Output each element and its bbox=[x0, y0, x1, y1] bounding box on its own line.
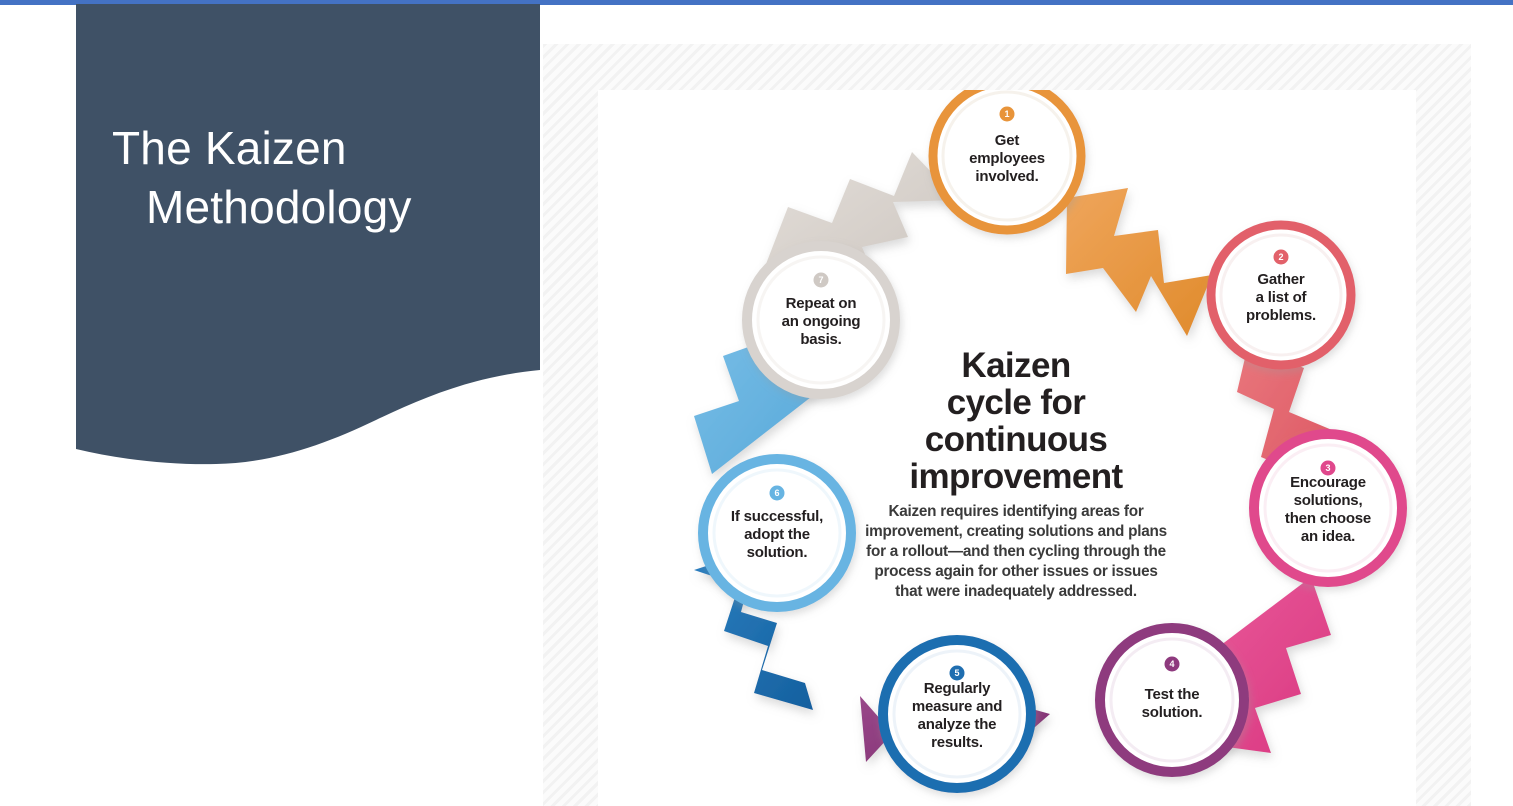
slide-canvas: The Kaizen Methodology bbox=[0, 0, 1513, 806]
arrow-step1-to-step2 bbox=[1066, 188, 1212, 336]
diagram-image: 1 2 3 4 5 6 7 Get employees involved. Ga… bbox=[598, 90, 1416, 806]
step-badge-7 bbox=[814, 273, 829, 288]
step-badge-4 bbox=[1165, 657, 1180, 672]
step-node-4 bbox=[1100, 628, 1244, 772]
step-node-3 bbox=[1254, 434, 1402, 582]
step-badge-3 bbox=[1321, 461, 1336, 476]
step-node-2 bbox=[1211, 225, 1351, 365]
step-node-6 bbox=[703, 459, 851, 607]
kaizen-cycle-wheel: 1 2 3 4 5 6 7 Get employees involved. Ga… bbox=[598, 90, 1416, 806]
step-badge-5 bbox=[950, 666, 965, 681]
diagram-image-frame: 1 2 3 4 5 6 7 Get employees involved. Ga… bbox=[543, 44, 1471, 806]
step-badge-6 bbox=[770, 486, 785, 501]
title-line-1: The Kaizen bbox=[112, 122, 347, 174]
step-badge-1 bbox=[1000, 107, 1015, 122]
title-panel: The Kaizen Methodology bbox=[76, 4, 540, 474]
step-node-5 bbox=[883, 640, 1031, 788]
step-node-7 bbox=[747, 246, 895, 394]
page-title: The Kaizen Methodology bbox=[112, 119, 512, 237]
title-line-2: Methodology bbox=[112, 178, 512, 237]
step-badge-2 bbox=[1274, 250, 1289, 265]
